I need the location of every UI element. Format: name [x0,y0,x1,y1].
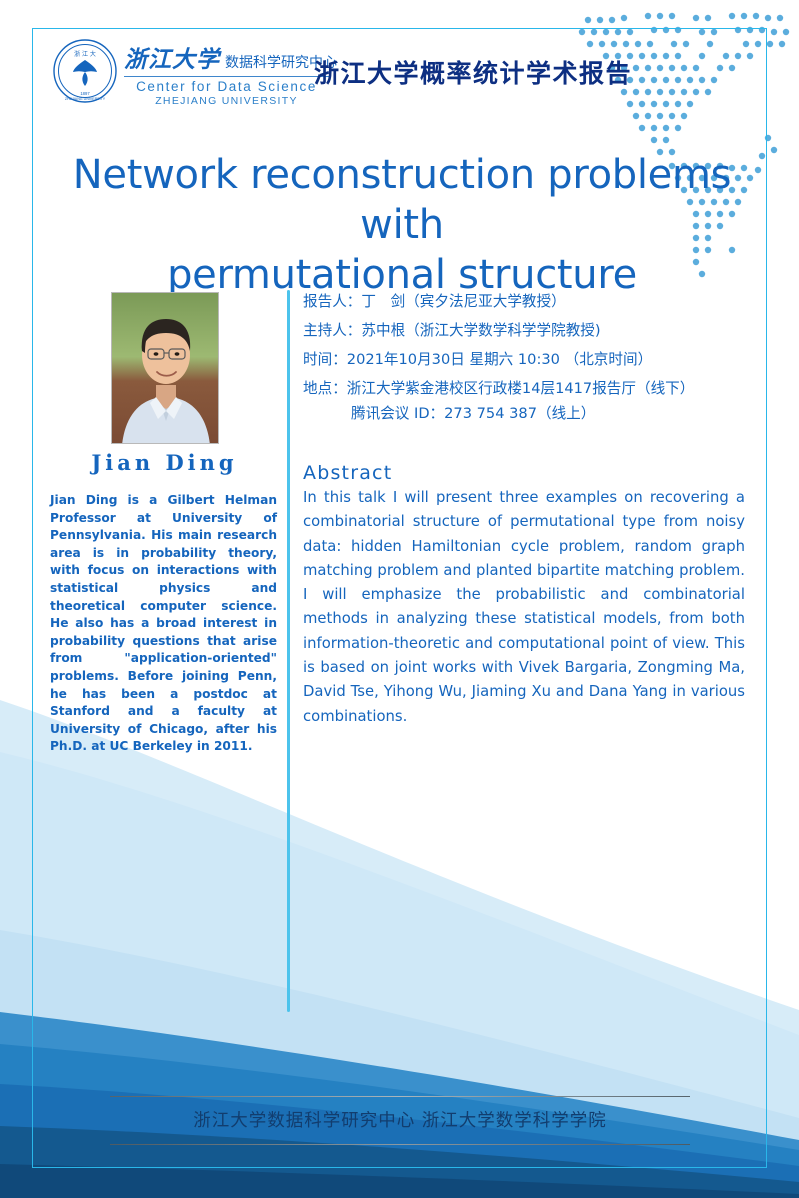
portrait-image [112,293,219,444]
speaker-name: Jian Ding [42,450,287,475]
detail-speaker: 报告人：丁 剑（宾夕法尼亚大学教授） [303,292,763,311]
svg-text:浙 江 大: 浙 江 大 [74,50,96,58]
zhejiang-university-logo-icon: 浙 江 大 1897 ZHEJIANG UNIVERSITY [52,38,118,104]
svg-text:1897: 1897 [80,91,90,96]
page-title: Network reconstruction problems with per… [46,150,758,300]
speaker-biography: Jian Ding is a Gilbert Helman Professor … [50,492,277,756]
cds-english-line2: ZHEJIANG UNIVERSITY [124,95,329,107]
svg-text:ZHEJIANG UNIVERSITY: ZHEJIANG UNIVERSITY [65,97,106,101]
center-for-data-science-wordmark: 浙江大学 数据科学研究中心 Center for Data Science ZH… [124,40,339,107]
detail-location: 地点：浙江大学紫金港校区行政楼14层1417报告厅（线下） [303,379,763,398]
column-divider [287,290,290,1012]
title-line-1: Network reconstruction problems with [46,150,758,250]
detail-meeting-id: 腾讯会议 ID：273 754 387（线上） [303,404,763,423]
detail-host: 主持人：苏中根（浙江大学数学科学学院教授) [303,321,763,340]
abstract-heading: Abstract [303,462,392,484]
seminar-poster: 浙 江 大 1897 ZHEJIANG UNIVERSITY 浙江大学 数据科学… [0,0,799,1198]
cds-english-line1: Center for Data Science [124,79,329,94]
event-details: 报告人：丁 剑（宾夕法尼亚大学教授） 主持人：苏中根（浙江大学数学科学学院教授)… [303,292,763,433]
abstract-body: In this talk I will present three exampl… [303,486,745,729]
footer-organizers: 浙江大学数据科学研究中心 浙江大学数学科学学院 [110,1107,690,1132]
zju-chinese-name: 浙江大学 [124,40,220,74]
series-title: 浙江大学概率统计学术报告 [314,54,632,90]
wordmark-rule [124,76,329,77]
speaker-photo [111,292,219,444]
footer-rule-bottom [110,1144,690,1145]
poster-header: 浙 江 大 1897 ZHEJIANG UNIVERSITY 浙江大学 数据科学… [32,28,767,118]
detail-time: 时间：2021年10月30日 星期六 10:30 （北京时间） [303,350,763,369]
footer-rule-top [110,1096,690,1097]
